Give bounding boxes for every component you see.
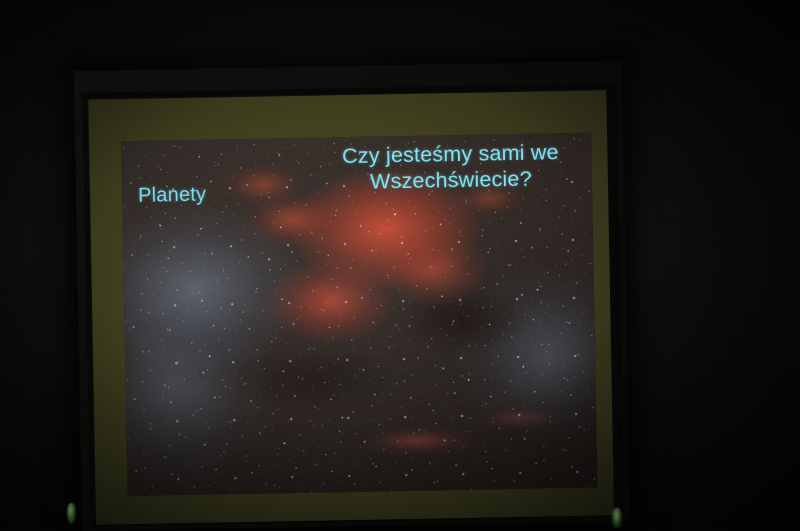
bright-stars	[121, 133, 597, 497]
projection-screen: Czy jesteśmy sami we Wszechświecie? Plan…	[74, 61, 630, 531]
green-indicator-light-left	[67, 503, 76, 524]
screen-surface: Czy jesteśmy sami we Wszechświecie? Plan…	[88, 90, 614, 524]
screenshot-root: Czy jesteśmy sami we Wszechświecie? Plan…	[0, 0, 800, 531]
projected-slide: Czy jesteśmy sami we Wszechświecie? Plan…	[121, 133, 597, 497]
green-indicator-light-right	[612, 508, 622, 528]
